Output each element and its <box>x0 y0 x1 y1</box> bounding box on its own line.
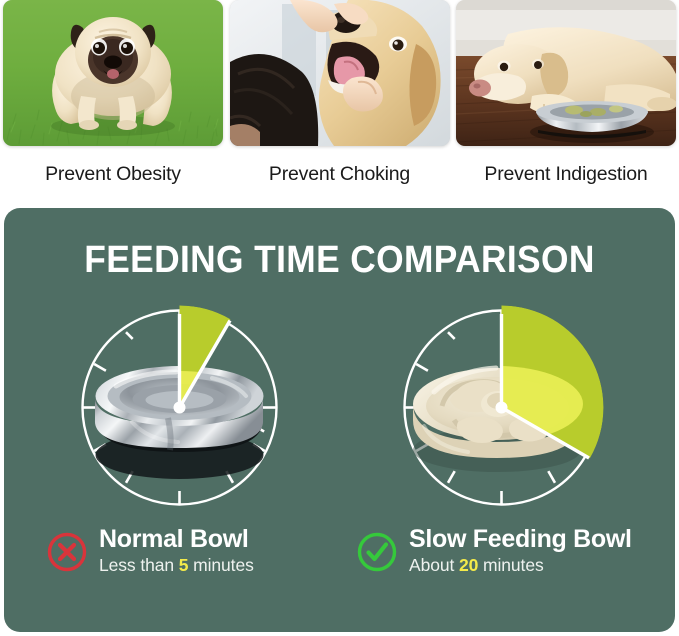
result-title-normal-bowl: Normal Bowl <box>99 526 254 554</box>
result-normal-bowl: Normal Bowl Less than 5 minutes <box>46 526 254 577</box>
feeding-time-comparison-panel: FEEDING TIME COMPARISON <box>4 208 675 632</box>
sub-value: 5 <box>179 555 189 575</box>
results-row: Normal Bowl Less than 5 minutes Slow Fee… <box>4 526 675 606</box>
result-sub-normal-bowl: Less than 5 minutes <box>99 554 254 578</box>
sub-prefix: About <box>409 555 459 575</box>
fat-pug-on-grass-photo <box>3 0 223 146</box>
slow-feeding-bowl-gauge-graphic <box>394 300 609 515</box>
benefit-label-prevent-indigestion: Prevent Indigestion <box>484 163 647 186</box>
gauges-row <box>4 300 675 515</box>
dial-hub <box>174 402 186 414</box>
benefit-photo-prevent-indigestion <box>456 0 676 146</box>
benefit-item-prevent-indigestion: Prevent Indigestion <box>456 0 676 196</box>
check-circle-icon <box>356 531 398 573</box>
normal-bowl-gauge <box>72 300 287 515</box>
sub-value: 20 <box>459 555 478 575</box>
result-sub-slow-feeding-bowl: About 20 minutes <box>409 554 632 578</box>
product-infographic: Prevent Obesity <box>0 0 679 636</box>
dog-choking-vet-check-photo <box>230 0 450 146</box>
benefit-item-prevent-obesity: Prevent Obesity <box>3 0 223 196</box>
result-title-slow-feeding-bowl: Slow Feeding Bowl <box>409 526 632 554</box>
benefit-label-prevent-choking: Prevent Choking <box>269 163 410 186</box>
panel-title: FEEDING TIME COMPARISON <box>27 239 651 282</box>
dial-hub <box>496 402 508 414</box>
benefit-photo-prevent-obesity <box>3 0 223 146</box>
sub-prefix: Less than <box>99 555 179 575</box>
x-circle-icon <box>46 531 88 573</box>
benefits-strip: Prevent Obesity <box>0 0 679 196</box>
sub-suffix: minutes <box>478 555 543 575</box>
benefit-label-prevent-obesity: Prevent Obesity <box>45 163 181 186</box>
slow-feeding-bowl-gauge <box>394 300 609 515</box>
benefit-item-prevent-choking: Prevent Choking <box>230 0 450 196</box>
labrador-lying-by-bowl-photo <box>456 0 676 146</box>
normal-bowl-gauge-graphic <box>72 300 287 515</box>
result-slow-feeding-bowl: Slow Feeding Bowl About 20 minutes <box>356 526 632 577</box>
benefit-photo-prevent-choking <box>230 0 450 146</box>
sub-suffix: minutes <box>188 555 253 575</box>
